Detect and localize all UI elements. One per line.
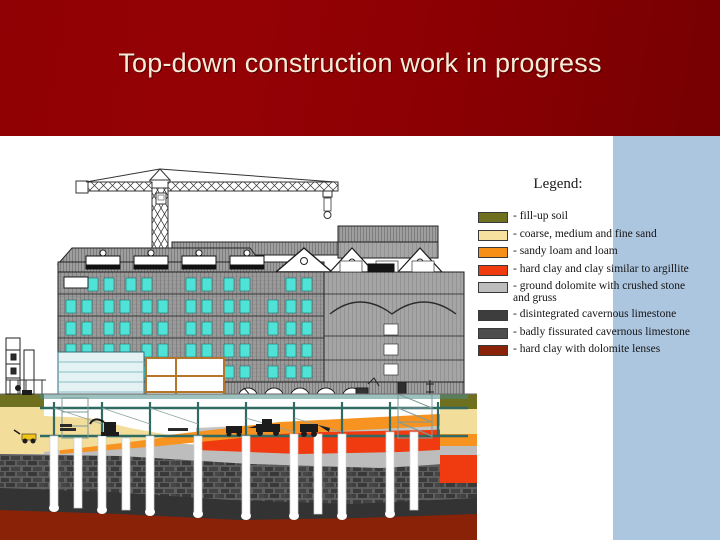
legend-item-label: - ground dolomite with crushed stone and… [513,281,701,305]
swatch-sand [478,230,508,241]
legend-item-label: - hard clay with dolomite lenses [513,344,660,356]
legend-item: - disintegrated cavernous limestone [478,309,720,322]
swatch-sandy-loam [478,247,508,258]
building-facade-elevation [58,226,464,408]
legend-item-label: - badly fissurated cavernous limestone [513,327,690,339]
legend-item: - ground dolomite with crushed stone and… [478,281,720,305]
legend-item: - hard clay and clay similar to argillit… [478,264,720,277]
slide: Top-down construction work in progress [0,0,720,540]
swatch-ground-dolomite [478,282,508,293]
slide-body: Legend: - fill-up soil - coarse, medium … [0,136,720,540]
title-band: Top-down construction work in progress [0,0,720,136]
legend-item: - sandy loam and loam [478,246,720,259]
legend-item-label: - sandy loam and loam [513,246,618,258]
excavation-with-piles [0,394,477,540]
legend-item-label: - coarse, medium and fine sand [513,229,657,241]
swatch-fissurated-limestone [478,328,508,339]
legend-item: - fill-up soil [478,211,720,224]
legend-heading: Legend: [478,176,638,193]
legend-item-label: - hard clay and clay similar to argillit… [513,264,689,276]
legend: Legend: - fill-up soil - coarse, medium … [478,176,720,362]
swatch-hard-clay-dolomite [478,345,508,356]
swatch-hard-clay [478,265,508,276]
legend-item-label: - disintegrated cavernous limestone [513,309,676,321]
legend-items: - fill-up soil - coarse, medium and fine… [478,211,720,357]
legend-item: - coarse, medium and fine sand [478,229,720,242]
legend-item-label: - fill-up soil [513,211,568,223]
swatch-fill-up-soil [478,212,508,223]
page-title: Top-down construction work in progress [0,48,720,79]
legend-item: - badly fissurated cavernous limestone [478,327,720,340]
swatch-disintegrated-limestone [478,310,508,321]
legend-item: - hard clay with dolomite lenses [478,344,720,357]
